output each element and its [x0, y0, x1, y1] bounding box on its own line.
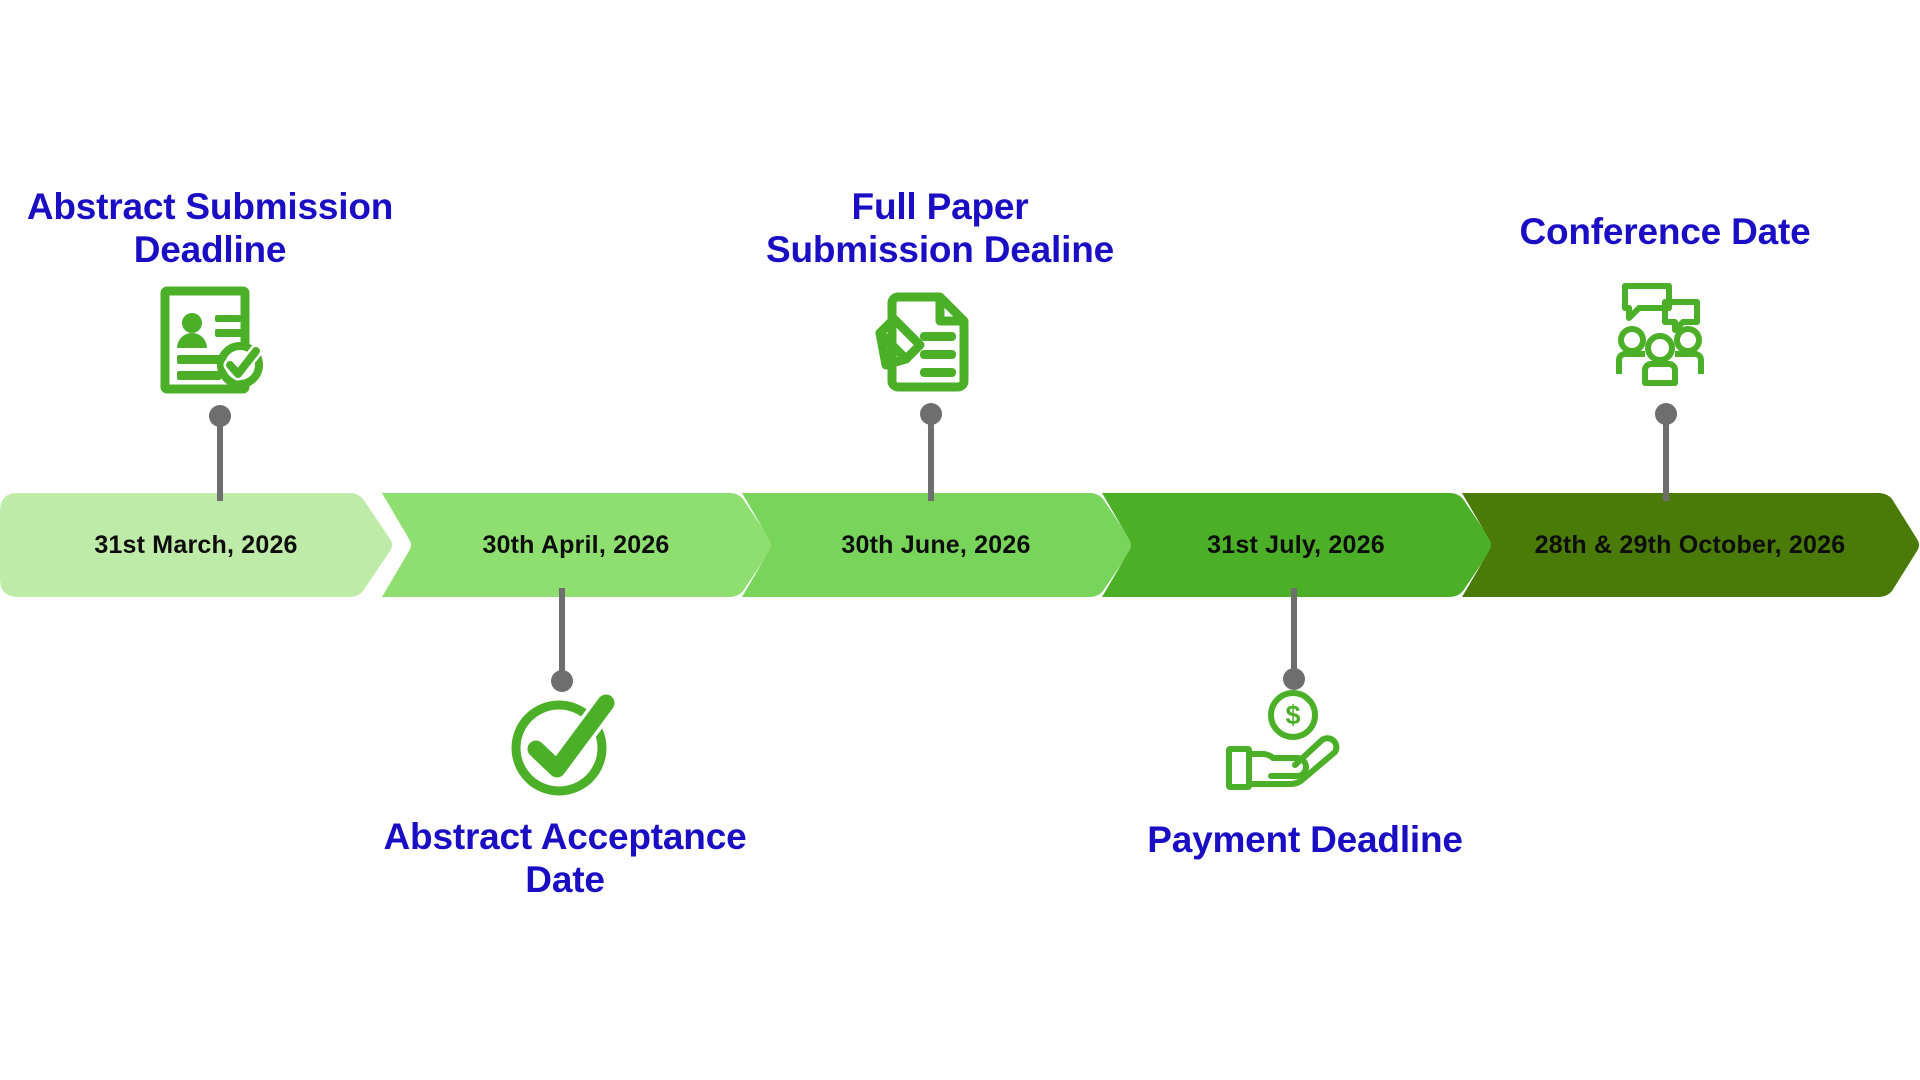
milestone-label-conference: Conference Date: [1435, 210, 1895, 253]
milestone-dot-2: [551, 670, 573, 692]
milestone-label-abstract-acceptance: Abstract Acceptance Date: [330, 815, 800, 902]
milestone-label-line1: Full Paper: [715, 185, 1165, 228]
milestone-dot-5: [1655, 403, 1677, 425]
circle-check-icon: [507, 690, 617, 800]
milestone-label-line2: Date: [330, 858, 800, 901]
timeline-bar: 31st March, 2026 30th April, 2026 30th J…: [0, 493, 1920, 597]
milestone-label-line1: Abstract Acceptance: [330, 815, 800, 858]
milestone-label-full-paper: Full Paper Submission Dealine: [715, 185, 1165, 272]
timeline-date-5: 28th & 29th October, 2026: [1535, 531, 1846, 560]
timeline-date-2: 30th April, 2026: [482, 531, 669, 560]
milestone-dot-1: [209, 405, 231, 427]
timeline-segment-abstract-submission[interactable]: 31st March, 2026: [0, 493, 392, 597]
milestone-label-line2: Deadline: [0, 228, 440, 271]
milestone-stem-5: [1663, 413, 1669, 501]
hand-coin-icon: $: [1225, 690, 1360, 795]
milestone-dot-3: [920, 403, 942, 425]
timeline-segment-abstract-acceptance[interactable]: 30th April, 2026: [380, 493, 772, 597]
milestone-label-abstract-submission: Abstract Submission Deadline: [0, 185, 440, 272]
milestone-label-line1: Conference Date: [1435, 210, 1895, 253]
milestone-stem-1: [217, 415, 223, 501]
timeline-date-4: 31st July, 2026: [1207, 531, 1385, 560]
svg-text:$: $: [1285, 700, 1300, 730]
timeline-segment-full-paper[interactable]: 30th June, 2026: [740, 493, 1132, 597]
milestone-label-line2: Submission Dealine: [715, 228, 1165, 271]
timeline-segment-payment[interactable]: 31st July, 2026: [1100, 493, 1492, 597]
milestone-stem-4: [1291, 588, 1297, 678]
document-pen-icon: [872, 285, 982, 395]
milestone-label-payment: Payment Deadline: [1065, 818, 1545, 861]
id-document-check-icon: [155, 285, 275, 395]
timeline-segment-conference[interactable]: 28th & 29th October, 2026: [1460, 493, 1920, 597]
milestone-label-line1: Abstract Submission: [0, 185, 440, 228]
timeline-date-1: 31st March, 2026: [94, 531, 297, 560]
milestone-dot-4: [1283, 668, 1305, 690]
milestone-label-line1: Payment Deadline: [1065, 818, 1545, 861]
milestone-stem-3: [928, 413, 934, 501]
milestone-stem-2: [559, 588, 565, 680]
timeline-date-3: 30th June, 2026: [841, 531, 1030, 560]
timeline-infographic: 31st March, 2026 30th April, 2026 30th J…: [0, 0, 1920, 1080]
people-conference-icon: [1615, 282, 1705, 387]
